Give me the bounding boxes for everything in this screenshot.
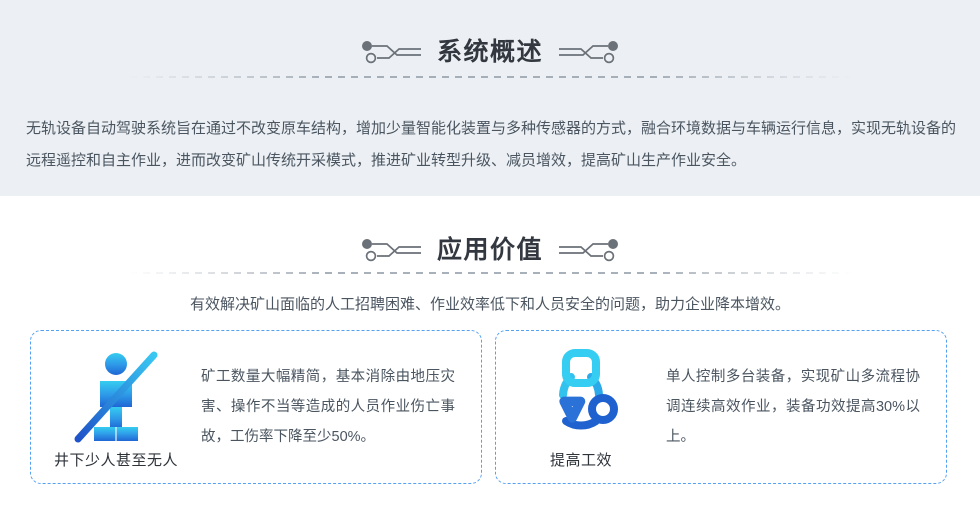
no-person-underground-icon <box>68 349 164 445</box>
value-cards-container: 井下少人甚至无人 矿工数量大幅精简，基本消除由地压灾害、操作不当等造成的人员作业… <box>0 330 980 486</box>
value-divider <box>0 272 980 274</box>
card-body-text: 单人控制多台装备，实现矿山多流程协调连续高效作业，装备功效提高30%以上。 <box>666 362 946 452</box>
circuit-line-left-icon <box>361 237 423 263</box>
value-heading-row: 应用价值 <box>0 228 980 272</box>
overview-heading-row: 系统概述 <box>0 30 980 74</box>
value-card[interactable]: 井下少人甚至无人 矿工数量大幅精简，基本消除由地压灾害、操作不当等造成的人员作业… <box>30 330 482 484</box>
value-title: 应用价值 <box>437 238 543 263</box>
card-label: 井下少人甚至无人 <box>54 449 178 470</box>
overview-title: 系统概述 <box>437 40 543 65</box>
circuit-line-right-icon <box>557 237 619 263</box>
card-icon-column: 井下少人甚至无人 <box>31 345 201 470</box>
multi-device-workflow-icon <box>533 349 629 445</box>
value-card[interactable]: 提高工效 单人控制多台装备，实现矿山多流程协调连续高效作业，装备功效提高30%以… <box>495 330 947 484</box>
card-label: 提高工效 <box>550 449 612 470</box>
circuit-line-right-icon <box>557 39 619 65</box>
overview-divider <box>0 76 980 78</box>
section-overview: 系统概述 无轨设备自动驾驶系统旨在通过不改变原车结构，增加少量智能化装置与多种传… <box>0 0 980 196</box>
card-icon-column: 提高工效 <box>496 345 666 470</box>
circuit-line-left-icon <box>361 39 423 65</box>
value-subtitle-text: 有效解决矿山面临的人工招聘困难、作业效率低下和人员安全的问题，助力企业降本增效。 <box>0 294 980 316</box>
overview-body-text: 无轨设备自动驾驶系统旨在通过不改变原车结构，增加少量智能化装置与多种传感器的方式… <box>26 113 956 177</box>
card-body-text: 矿工数量大幅精简，基本消除由地压灾害、操作不当等造成的人员作业伤亡事故，工伤率下… <box>201 362 481 452</box>
